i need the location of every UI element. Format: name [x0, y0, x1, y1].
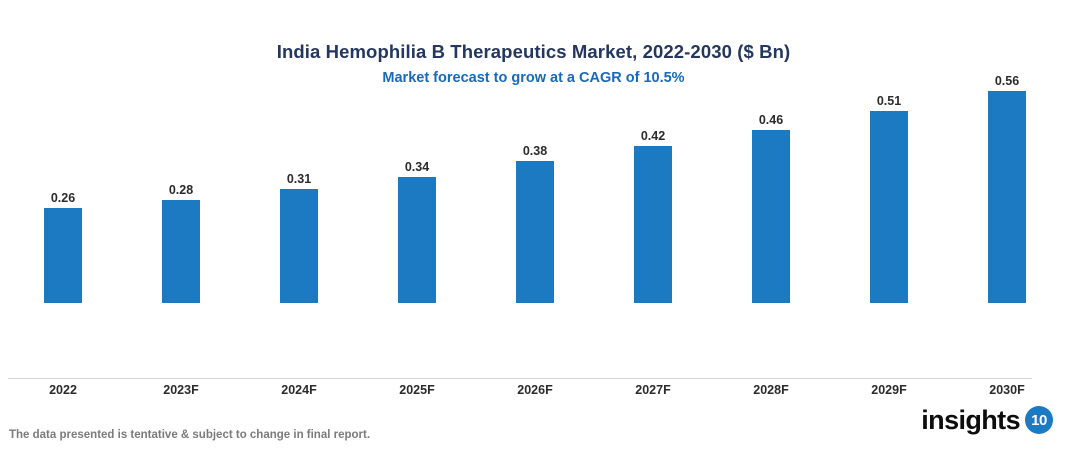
bar-value-label: 0.56: [967, 74, 1047, 88]
bar-value-label: 0.31: [259, 172, 339, 186]
x-tick-2023F: 2023F: [133, 381, 229, 399]
bar-2024F[interactable]: 0.31: [280, 189, 318, 303]
bar-rect[interactable]: [280, 189, 318, 303]
bar-rect[interactable]: [44, 208, 82, 303]
bar-rect[interactable]: [988, 91, 1026, 303]
bar-rect[interactable]: [870, 111, 908, 303]
bar-value-label: 0.26: [23, 191, 103, 205]
bar-rect[interactable]: [634, 146, 672, 303]
bar-rect[interactable]: [516, 161, 554, 303]
chart-container: India Hemophilia B Therapeutics Market, …: [0, 0, 1067, 454]
logo-wordmark: insights: [921, 405, 1020, 435]
bar-2027F[interactable]: 0.42: [634, 146, 672, 303]
x-tick-2024F: 2024F: [251, 381, 347, 399]
x-tick-2025F: 2025F: [369, 381, 465, 399]
bar-2023F[interactable]: 0.28: [162, 200, 200, 303]
bar-value-label: 0.42: [613, 129, 693, 143]
bar-rect[interactable]: [752, 130, 790, 303]
x-axis-line: [8, 378, 1032, 379]
bar-value-label: 0.34: [377, 160, 457, 174]
bar-2026F[interactable]: 0.38: [516, 161, 554, 303]
bar-2025F[interactable]: 0.34: [398, 177, 436, 303]
insights10-logo: insights 10: [921, 405, 1053, 435]
bar-rect[interactable]: [398, 177, 436, 303]
bar-2028F[interactable]: 0.46: [752, 130, 790, 303]
bar-value-label: 0.51: [849, 94, 929, 108]
logo-badge-icon: 10: [1025, 406, 1053, 434]
x-tick-2028F: 2028F: [723, 381, 819, 399]
x-tick-2022: 2022: [15, 381, 111, 399]
x-tick-2029F: 2029F: [841, 381, 937, 399]
bar-2022[interactable]: 0.26: [44, 208, 82, 303]
disclaimer-text: The data presented is tentative & subjec…: [9, 428, 370, 443]
bar-value-label: 0.28: [141, 183, 221, 197]
bar-value-label: 0.46: [731, 113, 811, 127]
x-tick-2030F: 2030F: [959, 381, 1055, 399]
bar-2029F[interactable]: 0.51: [870, 111, 908, 303]
bar-2030F[interactable]: 0.56: [988, 91, 1026, 303]
bar-value-label: 0.38: [495, 144, 575, 158]
x-tick-2026F: 2026F: [487, 381, 583, 399]
x-tick-2027F: 2027F: [605, 381, 701, 399]
bar-rect[interactable]: [162, 200, 200, 303]
plot-area: 0.260.280.310.340.380.420.460.510.56 202…: [0, 0, 1067, 379]
